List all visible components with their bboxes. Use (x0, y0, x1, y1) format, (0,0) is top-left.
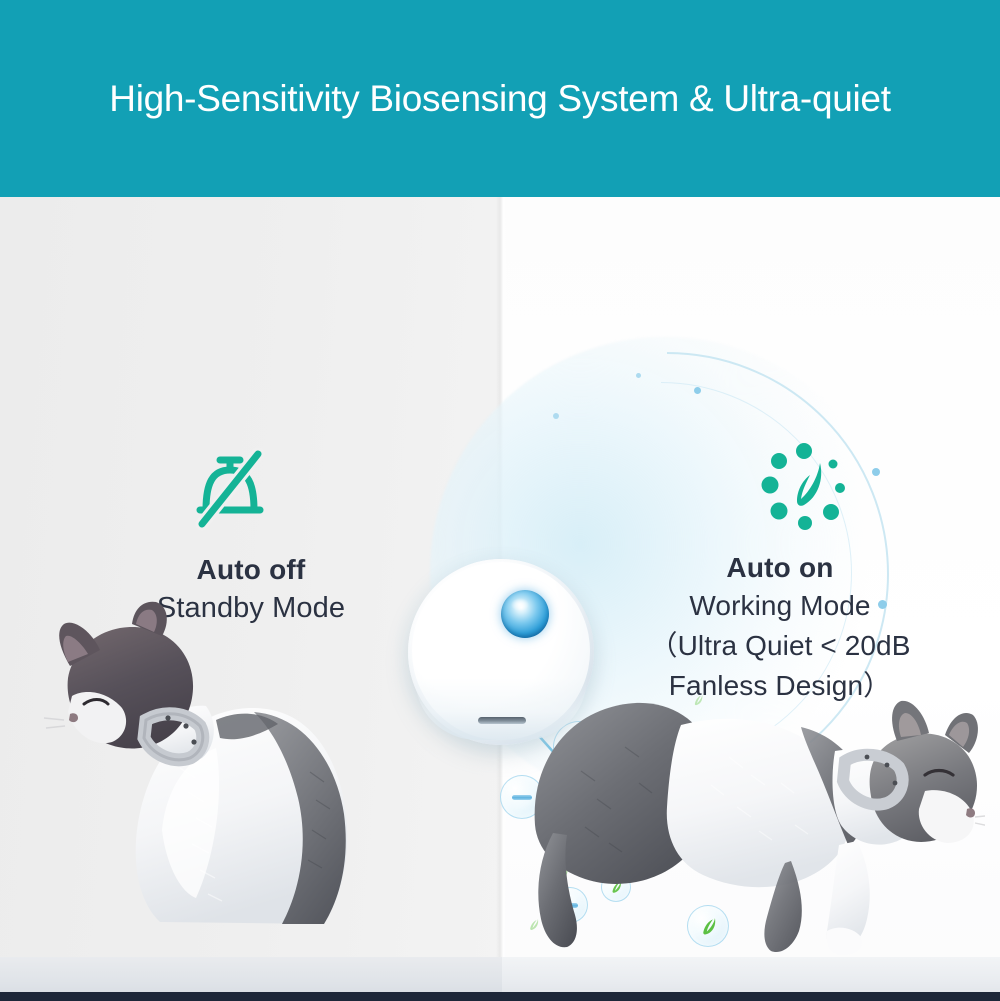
bell-slash-icon (186, 440, 274, 540)
led-highlight (511, 598, 529, 611)
floating-leaf (524, 915, 542, 933)
ion-bubble (558, 965, 582, 989)
ion-bubble (620, 730, 662, 772)
halo-dot (872, 468, 880, 476)
header-banner: High-Sensitivity Biosensing System & Ult… (0, 0, 1000, 197)
comparison-body: Auto off Standby Mode Auto on Working Mo… (0, 197, 1000, 1001)
halo-dot (553, 413, 559, 419)
right-subheading: Working Mode (580, 586, 980, 626)
ion-bubble (668, 765, 714, 811)
ion-bubble (552, 887, 588, 923)
ion-bubble (601, 872, 631, 902)
right-heading: Auto on (580, 550, 980, 586)
page-title: High-Sensitivity Biosensing System & Ult… (109, 78, 890, 120)
air-vent-slot (478, 717, 526, 724)
floating-leaf (551, 863, 572, 884)
ion-bar-icon (681, 786, 701, 791)
ion-bubble (687, 905, 729, 947)
product-feature-image: High-Sensitivity Biosensing System & Ult… (0, 0, 1000, 1001)
ion-bubble (619, 825, 669, 875)
power-led-indicator[interactable] (501, 590, 549, 638)
ion-bubble (714, 819, 756, 861)
right-detail-line-1: （Ultra Quiet < 20dB (580, 626, 980, 666)
right-text-block: Auto on Working Mode （Ultra Quiet < 20dB… (580, 550, 980, 706)
leaf-ions-icon (748, 435, 866, 547)
halo-dot (636, 373, 641, 378)
ion-bar-icon (561, 903, 578, 908)
odor-eliminator-puck[interactable] (408, 559, 594, 745)
floating-leaf (689, 691, 706, 708)
right-detail-line-2: Fanless Design） (580, 666, 980, 706)
halo-dot (694, 387, 701, 394)
